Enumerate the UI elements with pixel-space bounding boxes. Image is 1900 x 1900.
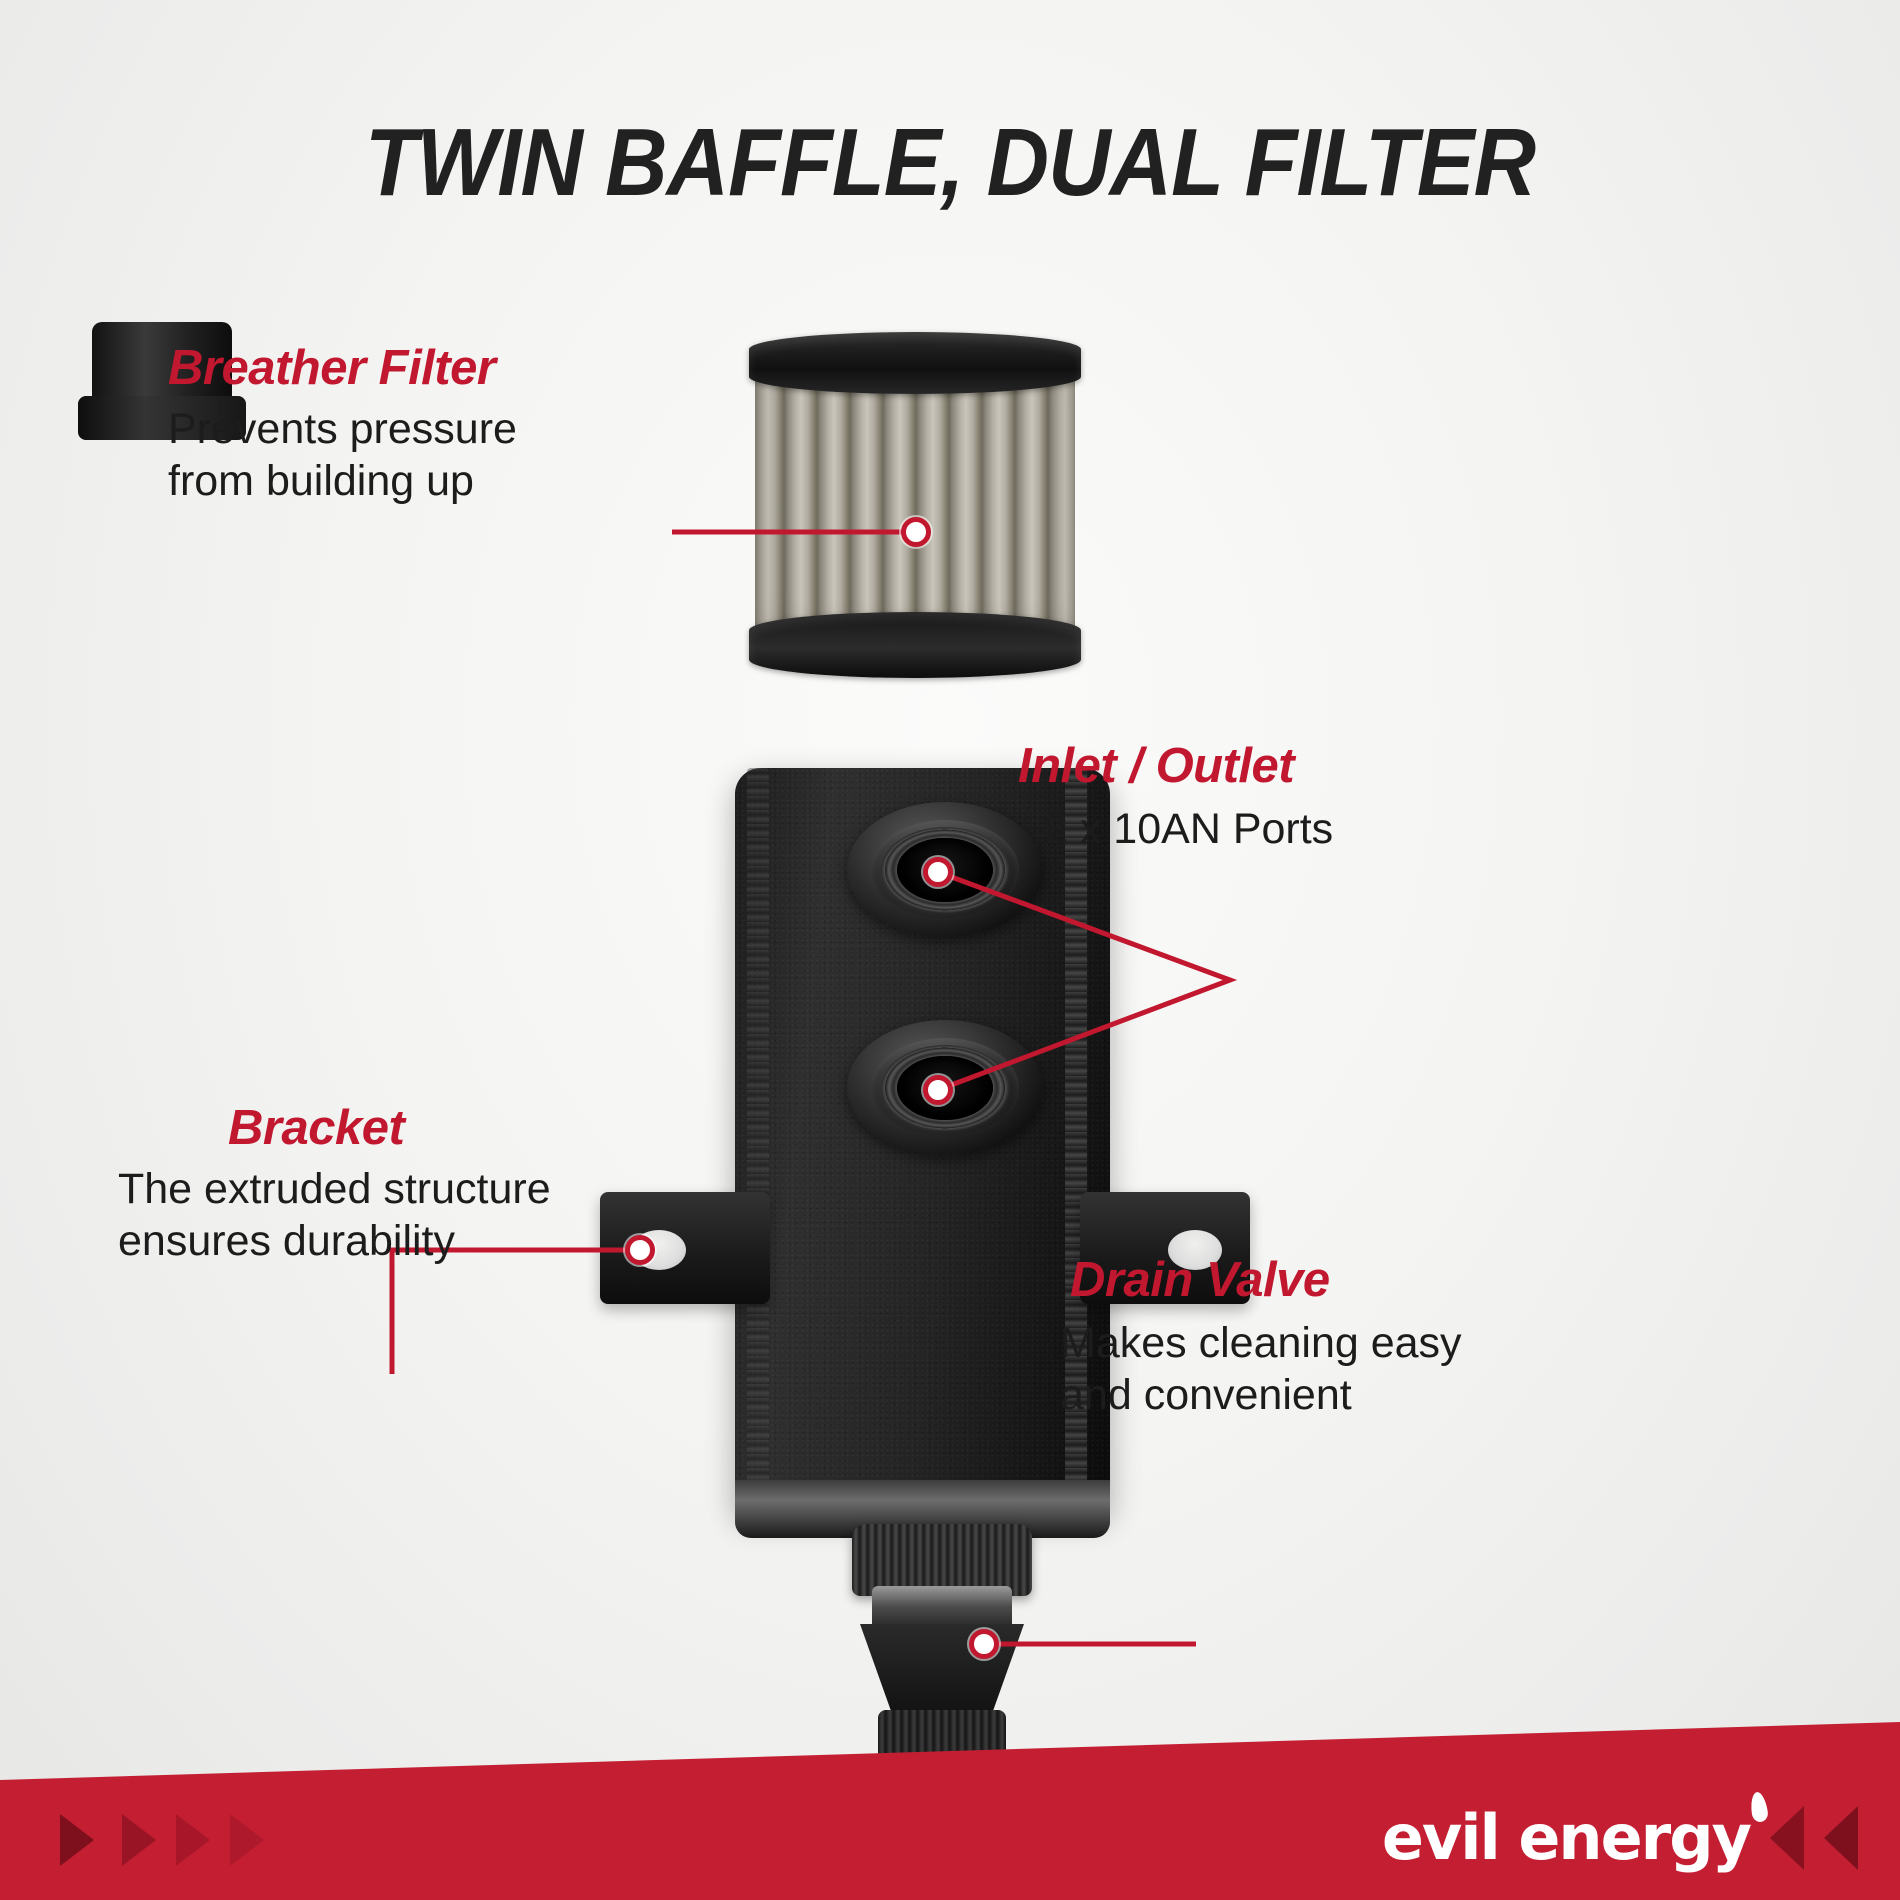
callout-body-line: from building up: [168, 455, 517, 507]
callout-body: The extruded structure ensures durabilit…: [118, 1163, 551, 1268]
footer-banner: evil energy: [0, 1780, 1900, 1900]
chevron-icon: [176, 1814, 210, 1866]
callout-inlet-outlet: Inlet / Outlet 2 x 10AN Ports: [1018, 742, 1333, 855]
callout-body-line: Makes cleaning easy: [1060, 1317, 1462, 1369]
callout-heading: Breather Filter: [168, 344, 517, 393]
callout-heading: Inlet / Outlet: [1018, 742, 1333, 791]
flame-icon: [1749, 1791, 1769, 1823]
callout-dot-inlet: [923, 857, 953, 887]
callout-body: 2 x 10AN Ports: [1018, 803, 1333, 855]
leader-bracket: [392, 1250, 640, 1374]
callout-dot-breather: [901, 517, 931, 547]
callout-body: Prevents pressure from building up: [168, 403, 517, 508]
callout-dot-outlet: [923, 1075, 953, 1105]
callout-body-line: Prevents pressure: [168, 403, 517, 455]
infographic-canvas: TWIN BAFFLE, DUAL FILTER: [0, 0, 1900, 1900]
callout-leader-lines: [0, 0, 1900, 1900]
callout-bracket: Bracket The extruded structure ensures d…: [118, 1104, 551, 1268]
brand-logo: evil energy: [1382, 1801, 1750, 1874]
chevron-left-icon: [1824, 1806, 1858, 1870]
callout-drain-valve: Drain Valve Makes cleaning easy and conv…: [1060, 1256, 1462, 1422]
chevron-icon: [122, 1814, 156, 1866]
callout-breather-filter: Breather Filter Prevents pressure from b…: [168, 344, 517, 508]
callout-body: Makes cleaning easy and convenient: [1060, 1317, 1462, 1422]
leader-inlet-outlet: [938, 872, 1230, 1090]
callout-dot-drain: [969, 1629, 999, 1659]
chevron-icon: [60, 1814, 94, 1866]
chevron-icon: [230, 1814, 264, 1866]
chevron-left-icon: [1770, 1806, 1804, 1870]
callout-body-line: The extruded structure: [118, 1163, 551, 1215]
callout-body-line: and convenient: [1060, 1369, 1462, 1421]
callout-body-line: 2 x 10AN Ports: [1044, 803, 1333, 855]
callout-body-line: ensures durability: [118, 1215, 551, 1267]
callout-dot-bracket: [625, 1235, 655, 1265]
callout-heading: Bracket: [118, 1104, 551, 1153]
callout-heading: Drain Valve: [1060, 1256, 1462, 1305]
